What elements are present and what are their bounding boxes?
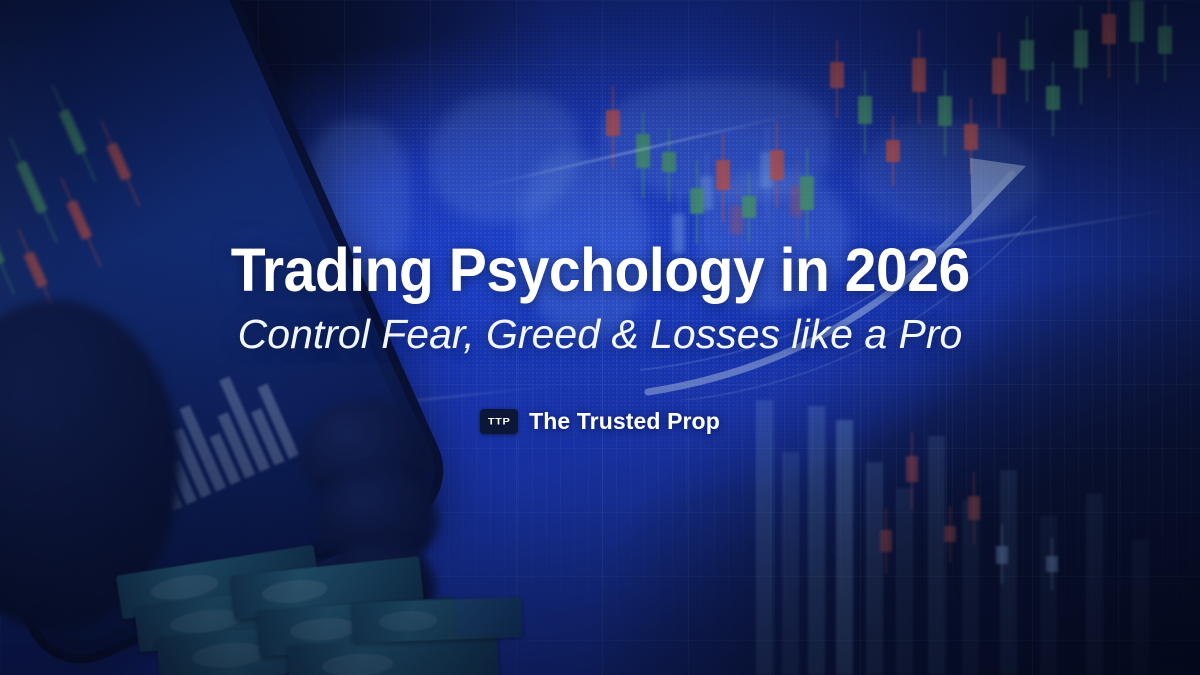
promo-banner: Trading Psychology in 2026 Control Fear,… (0, 0, 1200, 675)
banner-content: Trading Psychology in 2026 Control Fear,… (0, 0, 1200, 675)
brand-logo-icon: TTP (480, 409, 518, 434)
brand-lockup: TTP The Trusted Prop (480, 408, 720, 435)
brand-badge-text: TTP (488, 416, 511, 426)
page-subtitle: Control Fear, Greed & Losses like a Pro (238, 313, 963, 356)
brand-name: The Trusted Prop (529, 408, 720, 435)
page-title: Trading Psychology in 2026 (230, 240, 969, 301)
